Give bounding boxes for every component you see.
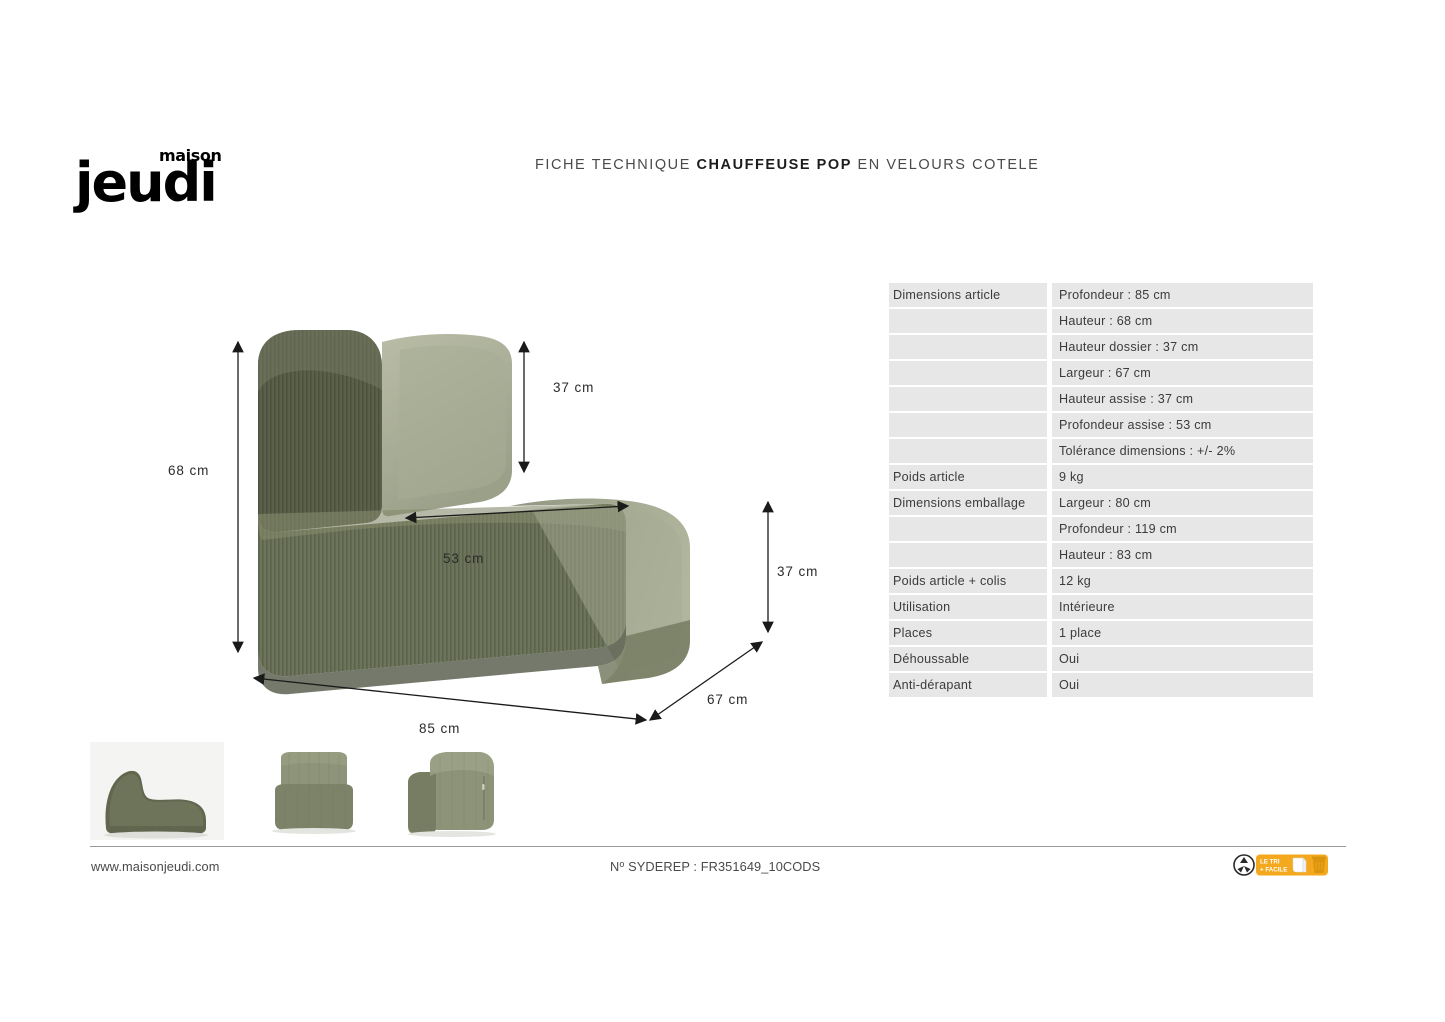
table-row: Dimensions emballage Largeur : 80 cm [889,491,1313,515]
table-row: Hauteur dossier : 37 cm [889,335,1313,359]
spec-value: Hauteur assise : 37 cm [1052,387,1313,411]
dimension-label-width: 67 cm [707,692,748,707]
table-row: Poids article 9 kg [889,465,1313,489]
dimension-label-seat-height: 37 cm [777,564,818,579]
spec-value: 12 kg [1052,569,1313,593]
document-title-product: CHAUFFEUSE POP [697,157,852,173]
table-row: Déhoussable Oui [889,647,1313,671]
spec-value: Profondeur : 119 cm [1052,517,1313,541]
table-row: Hauteur assise : 37 cm [889,387,1313,411]
spec-value: 9 kg [1052,465,1313,489]
spec-value: Oui [1052,673,1313,697]
spec-value: Intérieure [1052,595,1313,619]
table-row: Largeur : 67 cm [889,361,1313,385]
spec-value: 1 place [1052,621,1313,645]
footer-divider [90,846,1346,847]
spec-value: Profondeur assise : 53 cm [1052,413,1313,437]
dimension-label-seat-depth: 53 cm [443,551,484,566]
table-row: Profondeur assise : 53 cm [889,413,1313,437]
spec-key [889,361,1047,385]
spec-value: Largeur : 67 cm [1052,361,1313,385]
table-row: Utilisation Intérieure [889,595,1313,619]
triman-banner-line1: LE TRI [1260,859,1280,866]
table-row: Hauteur : 68 cm [889,309,1313,333]
triman-banner-line2: + FACILE [1260,867,1287,874]
dimension-label-total-depth: 85 cm [419,721,460,736]
product-dimension-illustration [150,320,850,750]
chair-drawing [150,320,850,750]
spec-key: Dimensions emballage [889,491,1047,515]
triman-recycling-logo: LE TRI + FACILE [1232,852,1332,878]
spec-key: Dimensions article [889,283,1047,307]
logo-wordmark-maison: maison [159,148,221,164]
syderep-value: SYDEREP : FR351649_10CODS [624,859,820,874]
thumbnail-side-view[interactable] [90,742,224,840]
document-title-prefix: FICHE TECHNIQUE [535,157,697,173]
spec-key: Déhoussable [889,647,1047,671]
spec-value: Hauteur : 83 cm [1052,543,1313,567]
spec-key [889,413,1047,437]
triman-arrows-icon [1234,855,1254,875]
table-row: Tolérance dimensions : +/- 2% [889,439,1313,463]
spec-key [889,517,1047,541]
spec-key: Anti-dérapant [889,673,1047,697]
product-thumbnail-strip [90,742,510,840]
thumbnail-front-view[interactable] [245,742,379,840]
page-header: jeudi maison FICHE TECHNIQUE CHAUFFEUSE … [0,0,1445,250]
spec-key [889,439,1047,463]
spec-key: Places [889,621,1047,645]
syderep-label: N [610,859,619,874]
dimension-label-back-height: 37 cm [553,380,594,395]
spec-key [889,309,1047,333]
spec-value: Hauteur : 68 cm [1052,309,1313,333]
spec-key [889,335,1047,359]
table-row: Profondeur : 119 cm [889,517,1313,541]
document-title-suffix: EN VELOURS COTELE [852,157,1039,173]
spec-value: Oui [1052,647,1313,671]
table-row: Poids article + colis 12 kg [889,569,1313,593]
spec-value: Largeur : 80 cm [1052,491,1313,515]
spec-key: Poids article + colis [889,569,1047,593]
document-title: FICHE TECHNIQUE CHAUFFEUSE POP EN VELOUR… [535,157,1039,173]
spec-key [889,387,1047,411]
dimension-label-total-height: 68 cm [168,463,209,478]
table-row: Places 1 place [889,621,1313,645]
footer-website-link[interactable]: www.maisonjeudi.com [91,859,220,874]
table-row: Hauteur : 83 cm [889,543,1313,567]
brand-logo: jeudi maison [75,148,245,218]
spec-key [889,543,1047,567]
footer-syderep-reference: No SYDEREP : FR351649_10CODS [610,859,820,874]
spec-value: Profondeur : 85 cm [1052,283,1313,307]
spec-key: Utilisation [889,595,1047,619]
table-row: Dimensions article Profondeur : 85 cm [889,283,1313,307]
specifications-table: Dimensions article Profondeur : 85 cm Ha… [889,283,1313,699]
thumbnail-rear-three-quarter-view[interactable] [390,742,515,840]
table-row: Anti-dérapant Oui [889,673,1313,697]
spec-value: Tolérance dimensions : +/- 2% [1052,439,1313,463]
spec-value: Hauteur dossier : 37 cm [1052,335,1313,359]
spec-key: Poids article [889,465,1047,489]
